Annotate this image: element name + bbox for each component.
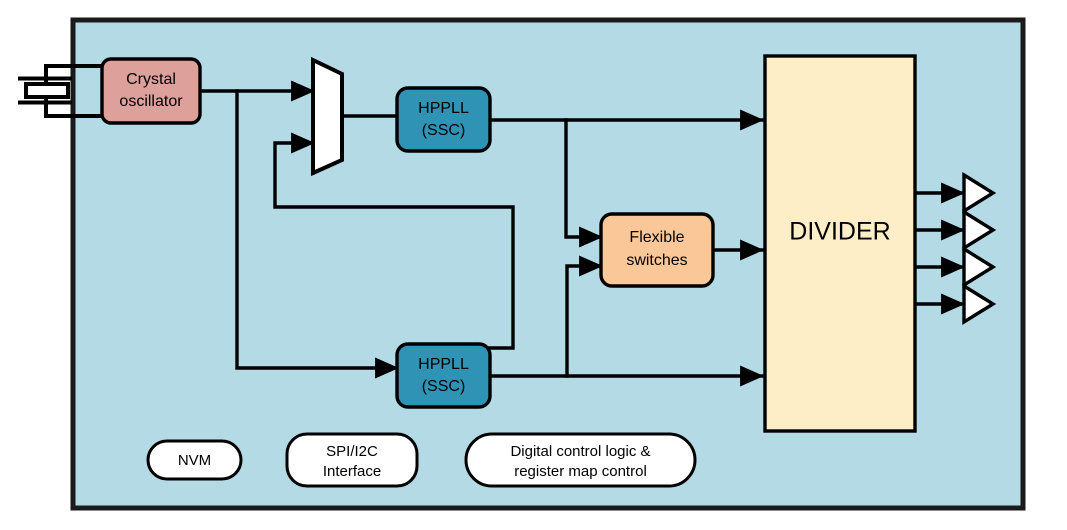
crystal-oscillator-label-line1: Crystal: [126, 71, 176, 88]
nvm-label: NVM: [178, 452, 211, 469]
spi-i2c-interface-label-line2: Interface: [323, 463, 381, 480]
hppll-top-label-line1: HPPLL: [418, 100, 469, 117]
digital-control-label-line2: register map control: [514, 463, 647, 480]
block-hppll-bottom[interactable]: HPPLL (SSC): [397, 344, 490, 407]
block-crystal-oscillator[interactable]: Crystal oscillator: [102, 59, 200, 123]
block-hppll-top[interactable]: HPPLL (SSC): [397, 88, 490, 151]
spi-i2c-interface-label-line1: SPI/I2C: [326, 443, 378, 460]
divider-label: DIVIDER: [789, 218, 890, 246]
flexible-switches-label-line2: switches: [626, 252, 687, 269]
block-divider[interactable]: DIVIDER: [765, 56, 915, 431]
block-digital-control-logic[interactable]: Digital control logic & register map con…: [466, 434, 695, 486]
block-nvm[interactable]: NVM: [148, 441, 241, 479]
diagram-svg: Crystal oscillator HPPLL (SSC) HPPLL (SS…: [0, 0, 1067, 530]
block-flexible-switches[interactable]: Flexible switches: [601, 214, 713, 286]
hppll-top-label-line2: (SSC): [422, 122, 466, 139]
clock-mux[interactable]: [313, 60, 342, 173]
crystal-oscillator-label-line2: oscillator: [119, 93, 183, 110]
digital-control-label-line1: Digital control logic &: [510, 443, 650, 460]
hppll-bottom-label-line1: HPPLL: [418, 356, 469, 373]
block-spi-i2c-interface[interactable]: SPI/I2C Interface: [287, 434, 417, 486]
hppll-bottom-label-line2: (SSC): [422, 378, 466, 395]
block-diagram-canvas: Crystal oscillator HPPLL (SSC) HPPLL (SS…: [0, 0, 1067, 530]
flexible-switches-label-line1: Flexible: [629, 229, 684, 246]
